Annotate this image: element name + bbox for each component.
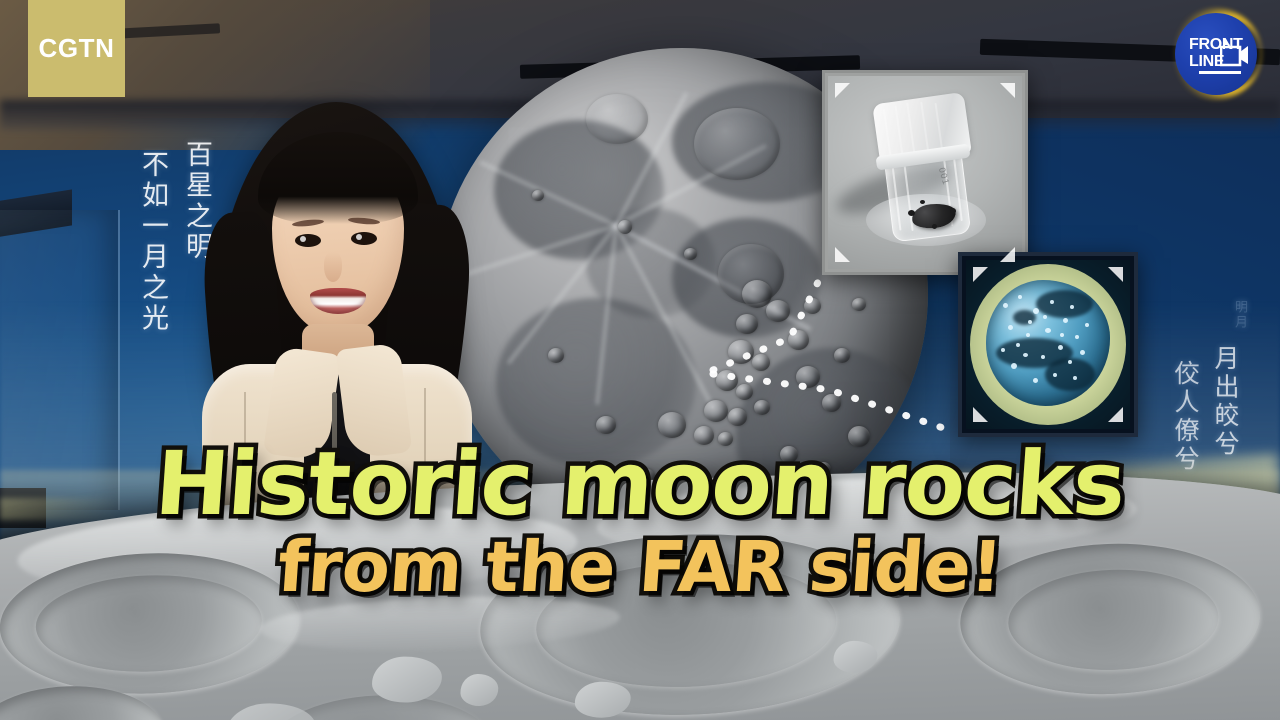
microscope-field-of-view: [970, 264, 1126, 425]
cgtn-logo-text: CGTN: [38, 33, 114, 64]
microscope-photo: [966, 260, 1130, 429]
headline-line-2: from the FAR side!: [0, 532, 1280, 602]
calligraphy-ghost: 明月: [1231, 300, 1250, 330]
badge-circle: FRONT LINE: [1175, 13, 1257, 95]
microscope-sample-inset[interactable]: [958, 252, 1138, 437]
headline: Historic moon rocks from the FAR side!: [0, 440, 1280, 602]
eye-highlight-right: [356, 234, 362, 240]
eye-highlight-left: [300, 236, 306, 242]
video-frame: 百星之明 不如一月之光 月出皎兮 佼人僚兮 明月: [0, 0, 1280, 720]
corner-marker-top-right: [1108, 267, 1123, 282]
corner-marker-top-right: [1000, 83, 1015, 98]
nose: [324, 252, 342, 282]
corner-marker-top-left: [835, 83, 850, 98]
headline-line-1: Historic moon rocks: [0, 440, 1280, 528]
corner-marker-top-left: [973, 267, 988, 282]
corner-marker-bottom-left: [835, 247, 850, 262]
eye-right: [351, 232, 377, 245]
lunar-sample-grains: [986, 280, 1111, 406]
vial-photo: 001: [828, 76, 1022, 269]
lunar-sample-vial-inset[interactable]: 001: [822, 70, 1028, 275]
calligraphy-left-second: 不如一月之光: [134, 150, 173, 335]
cgtn-network-logo[interactable]: CGTN: [28, 0, 125, 97]
video-camera-icon: [1220, 35, 1250, 69]
frontline-text-line2: LINE: [1189, 53, 1224, 71]
eye-left: [295, 234, 321, 247]
badge-underline: [1199, 71, 1241, 74]
corner-marker-bottom-right: [1000, 247, 1015, 262]
frontline-program-badge[interactable]: FRONT LINE: [1170, 8, 1262, 100]
corner-marker-bottom-left: [973, 407, 988, 422]
corner-marker-bottom-right: [1108, 407, 1123, 422]
